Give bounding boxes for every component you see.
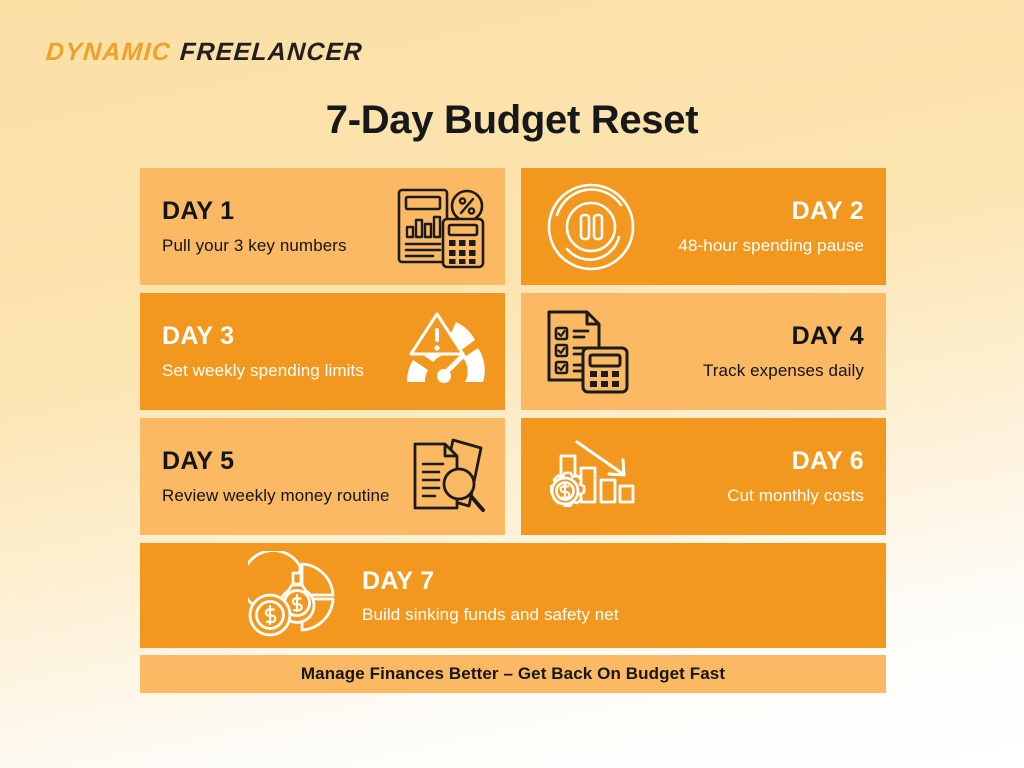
- declining-bars-gear-dollar-icon: [543, 434, 641, 520]
- card-day-3[interactable]: DAY 3 Set weekly spending limits: [140, 293, 505, 410]
- grid-row: DAY 1 Pull your 3 key numbers: [140, 168, 886, 285]
- days-grid: DAY 1 Pull your 3 key numbers: [140, 168, 886, 656]
- gauge-warning-icon: [397, 310, 489, 394]
- card-day-2-text: DAY 2 48-hour spending pause: [678, 197, 864, 256]
- card-day-4[interactable]: DAY 4 Track expenses daily: [521, 293, 886, 410]
- card-day-2-description: 48-hour spending pause: [678, 236, 864, 256]
- document-magnifier-icon: [397, 434, 489, 520]
- card-day-2[interactable]: DAY 2 48-hour spending pause: [521, 168, 886, 285]
- card-day-7-text: DAY 7 Build sinking funds and safety net: [362, 567, 619, 625]
- grid-row: DAY 7 Build sinking funds and safety net: [140, 543, 886, 648]
- card-day-1-label: DAY 1: [162, 197, 234, 226]
- card-day-6-description: Cut monthly costs: [727, 486, 864, 506]
- card-day-5[interactable]: DAY 5 Review weekly money routine: [140, 418, 505, 535]
- card-day-3-description: Set weekly spending limits: [162, 361, 364, 381]
- checklist-calculator-icon: [543, 306, 635, 398]
- page-title: 7-Day Budget Reset: [0, 98, 1024, 143]
- brand-name-freelancer: FREELANCER: [179, 38, 364, 67]
- card-day-1[interactable]: DAY 1 Pull your 3 key numbers: [140, 168, 505, 285]
- pause-circle-icon: [543, 179, 639, 275]
- card-day-7-label: DAY 7: [362, 567, 434, 596]
- card-day-4-description: Track expenses daily: [703, 361, 864, 381]
- card-day-3-text: DAY 3 Set weekly spending limits: [162, 322, 364, 381]
- card-day-7[interactable]: DAY 7 Build sinking funds and safety net: [140, 543, 886, 648]
- pie-moneybag-coin-icon: [248, 551, 340, 641]
- footer-text: Manage Finances Better – Get Back On Bud…: [301, 664, 725, 684]
- grid-row: DAY 3 Set weekly spending limits: [140, 293, 886, 410]
- card-day-3-label: DAY 3: [162, 322, 234, 351]
- card-day-1-text: DAY 1 Pull your 3 key numbers: [162, 197, 347, 256]
- grid-row: DAY 5 Review weekly money routine: [140, 418, 886, 535]
- card-day-2-label: DAY 2: [792, 197, 864, 226]
- card-day-4-text: DAY 4 Track expenses daily: [703, 322, 864, 381]
- report-calculator-percent-icon: [393, 184, 489, 270]
- card-day-4-label: DAY 4: [792, 322, 864, 351]
- card-day-6-label: DAY 6: [792, 447, 864, 476]
- card-day-6[interactable]: DAY 6 Cut monthly costs: [521, 418, 886, 535]
- card-day-5-text: DAY 5 Review weekly money routine: [162, 447, 390, 506]
- brand-logo: DYNAMIC FREELANCER: [46, 38, 363, 67]
- card-day-6-text: DAY 6 Cut monthly costs: [727, 447, 864, 506]
- card-day-1-description: Pull your 3 key numbers: [162, 236, 347, 256]
- card-day-7-description: Build sinking funds and safety net: [362, 605, 619, 625]
- brand-name-dynamic: DYNAMIC: [45, 38, 172, 67]
- card-day-5-label: DAY 5: [162, 447, 234, 476]
- card-day-5-description: Review weekly money routine: [162, 486, 390, 506]
- footer-banner: Manage Finances Better – Get Back On Bud…: [140, 655, 886, 693]
